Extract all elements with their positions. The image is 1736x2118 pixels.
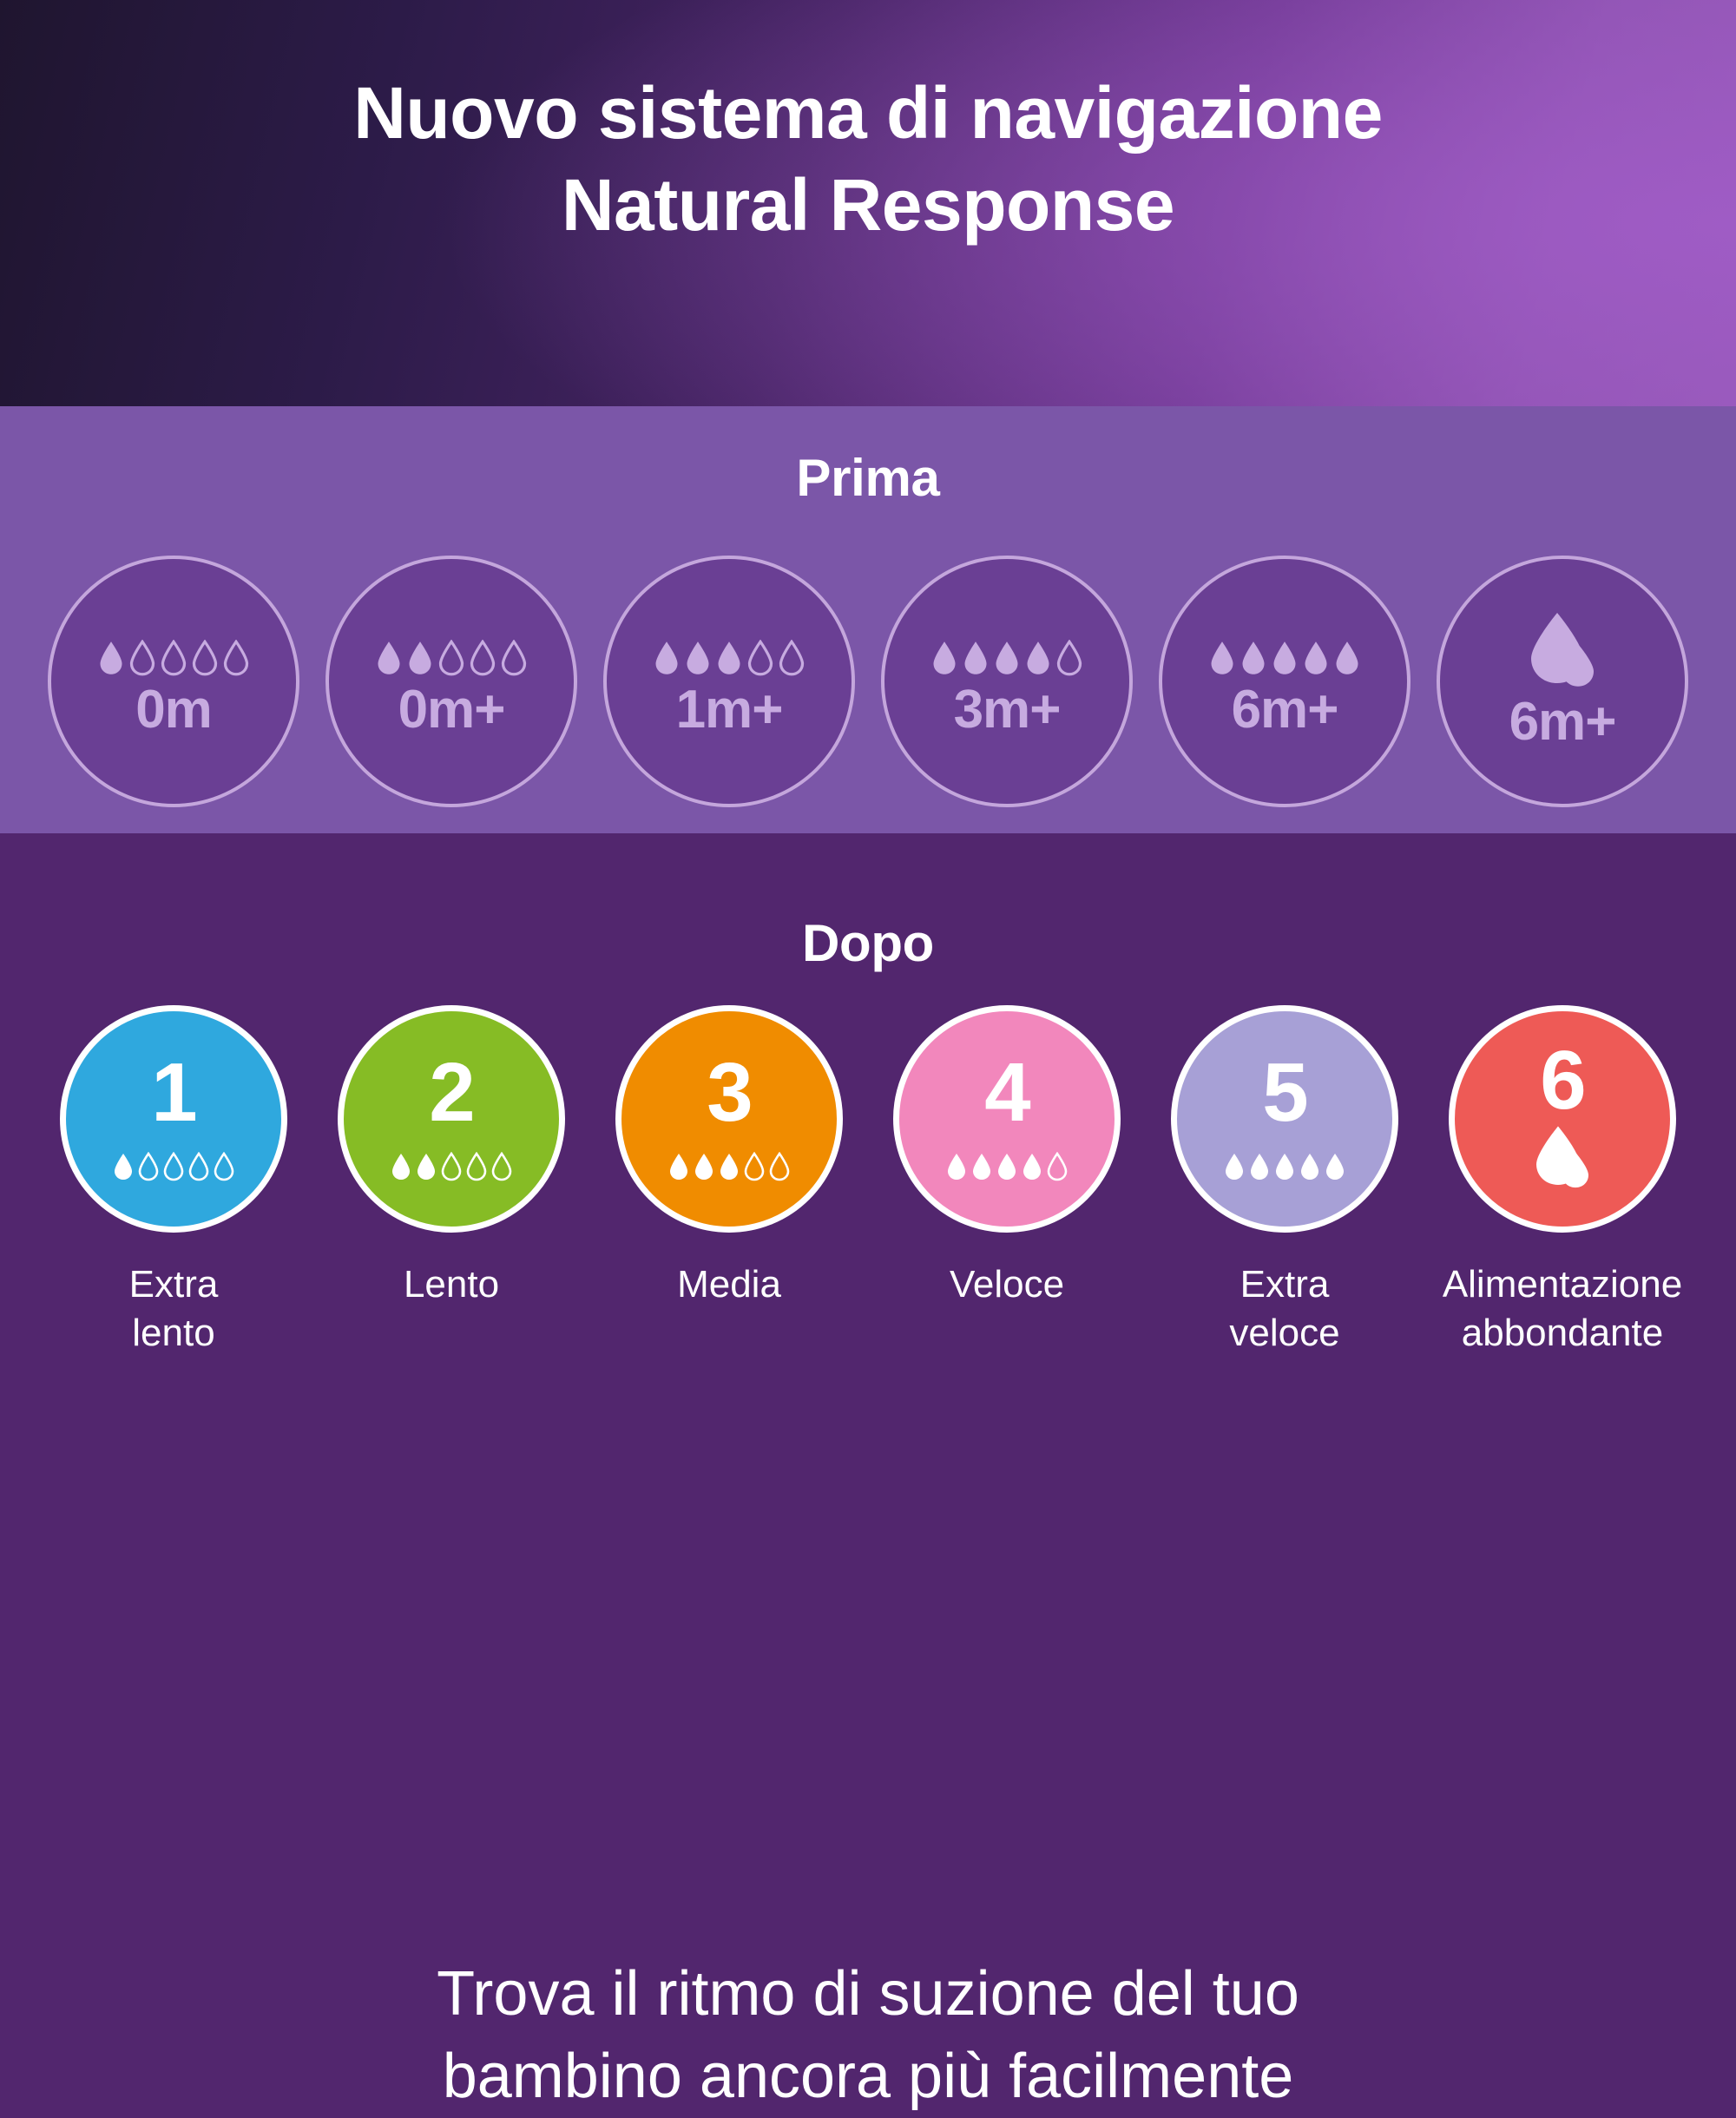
caption-line-2: bambino ancora più facilmente <box>0 2036 1736 2118</box>
step-label: Veloce <box>950 1260 1064 1309</box>
before-circle-label: 0m <box>135 683 212 737</box>
drops-icon <box>931 626 1082 676</box>
before-section-heading: Prima <box>0 448 1736 508</box>
page-title-line-2: Natural Response <box>0 160 1736 252</box>
before-section: Prima 0m0m+1m+3m+6m+6m+ <box>0 406 1736 833</box>
after-section-heading: Dopo <box>0 913 1736 973</box>
drops-icon <box>98 626 249 676</box>
step-2: 2Lento <box>325 1005 577 1309</box>
step-3: 3Media <box>603 1005 855 1309</box>
step-number: 6 <box>1540 1039 1584 1122</box>
before-circle-6: 6m+ <box>1437 556 1688 807</box>
drops-icon <box>668 1143 790 1181</box>
step-circle-6: 6 <box>1449 1005 1676 1233</box>
drops-icon <box>376 626 527 676</box>
caption-text: Trova il ritmo di suzione del tuo bambin… <box>0 1953 1736 2118</box>
step-1: 1Extra lento <box>48 1005 299 1358</box>
before-circle-1: 0m <box>48 556 299 807</box>
before-circle-4: 3m+ <box>881 556 1133 807</box>
step-label: Media <box>677 1260 781 1309</box>
step-circle-2: 2 <box>338 1005 565 1233</box>
before-circle-2: 0m+ <box>325 556 577 807</box>
drops-icon <box>946 1143 1068 1181</box>
step-number: 5 <box>1262 1051 1306 1135</box>
step-circle-1: 1 <box>60 1005 287 1233</box>
step-circle-5: 5 <box>1171 1005 1398 1233</box>
step-number: 2 <box>429 1051 473 1135</box>
before-circle-label: 1m+ <box>676 683 783 737</box>
before-circle-row: 0m0m+1m+3m+6m+6m+ <box>48 556 1688 807</box>
step-label: Lento <box>404 1260 499 1309</box>
drops-icon <box>113 1143 234 1181</box>
before-circle-label: 6m+ <box>1509 695 1616 749</box>
step-number: 4 <box>984 1051 1029 1135</box>
before-circle-3: 1m+ <box>603 556 855 807</box>
step-number: 3 <box>707 1051 751 1135</box>
page-title: Nuovo sistema di navigazione Natural Res… <box>0 68 1736 252</box>
thick-feed-icon <box>1528 1126 1597 1194</box>
step-label: Extra veloce <box>1229 1260 1339 1358</box>
step-4: 4Veloce <box>881 1005 1133 1309</box>
after-section: Dopo 1Extra lento2Lento3Media4Veloce5Ext… <box>0 833 1736 1736</box>
before-circle-label: 3m+ <box>954 683 1061 737</box>
drops-icon <box>1209 626 1360 676</box>
caption-line-1: Trova il ritmo di suzione del tuo <box>0 1953 1736 2036</box>
step-6: 6Alimentazione abbondante <box>1437 1005 1688 1358</box>
drops-icon <box>391 1143 512 1181</box>
drops-icon <box>654 626 805 676</box>
infographic-page: Nuovo sistema di navigazione Natural Res… <box>0 0 1736 1736</box>
step-circle-4: 4 <box>893 1005 1121 1233</box>
step-label: Alimentazione abbondante <box>1443 1260 1682 1358</box>
before-circle-label: 0m+ <box>398 683 505 737</box>
header-banner: Nuovo sistema di navigazione Natural Res… <box>0 0 1736 406</box>
drops-icon <box>1224 1143 1345 1181</box>
step-5: 5Extra veloce <box>1159 1005 1410 1358</box>
before-circle-5: 6m+ <box>1159 556 1410 807</box>
step-circle-3: 3 <box>615 1005 843 1233</box>
after-step-row: 1Extra lento2Lento3Media4Veloce5Extra ve… <box>48 1005 1688 1358</box>
thick-feed-icon <box>1521 614 1604 694</box>
step-label: Extra lento <box>129 1260 219 1358</box>
page-title-line-1: Nuovo sistema di navigazione <box>0 68 1736 160</box>
before-circle-label: 6m+ <box>1232 683 1338 737</box>
step-number: 1 <box>151 1051 195 1135</box>
